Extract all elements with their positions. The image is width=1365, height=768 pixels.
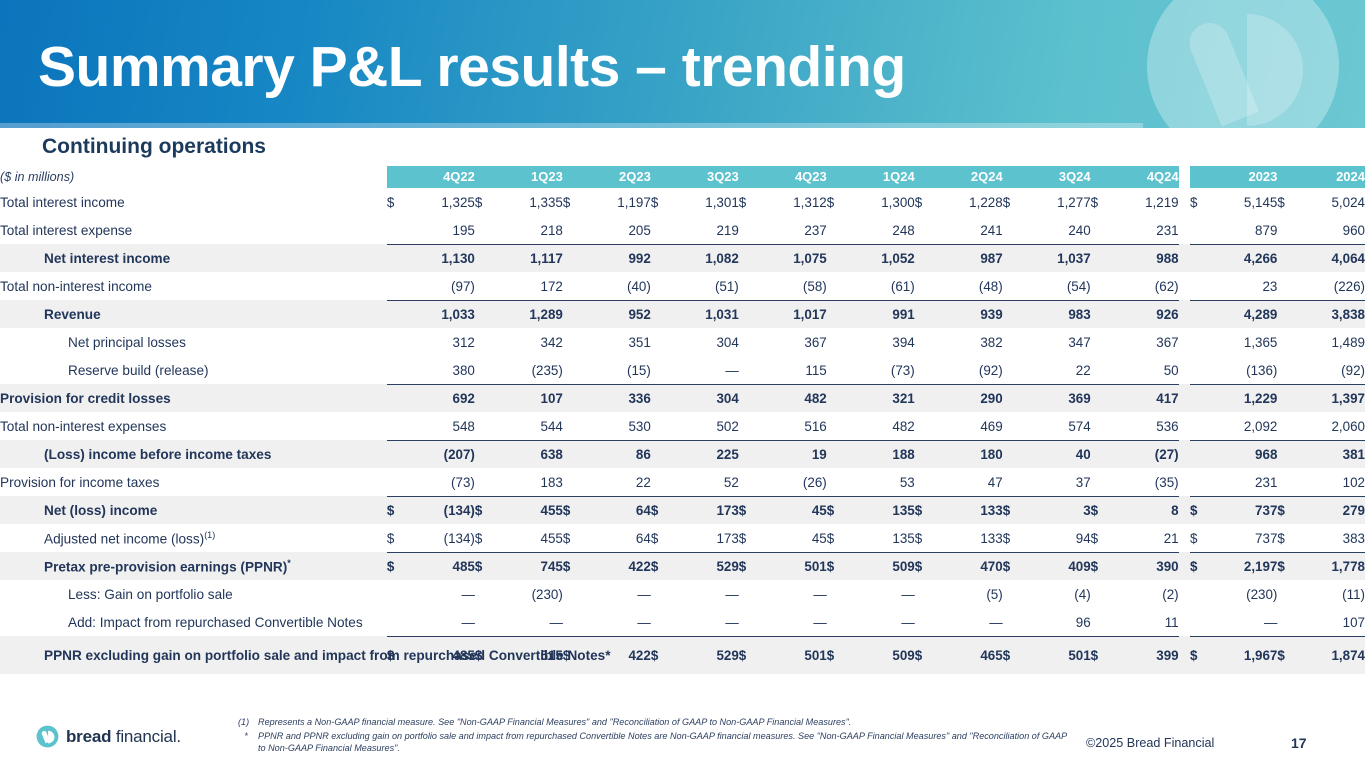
currency-symbol: $	[387, 188, 408, 216]
cell-4Q22: (207)	[407, 440, 474, 468]
row-label-superscript: (1)	[204, 530, 215, 540]
row-label: Reserve build (release)	[0, 356, 387, 384]
cell-1Q23: 183	[495, 468, 562, 496]
cell-4Q22: (134)	[407, 496, 474, 524]
currency-symbol	[1003, 300, 1024, 328]
currency-symbol	[827, 384, 848, 412]
currency-symbol	[915, 300, 936, 328]
currency-symbol	[1091, 412, 1112, 440]
column-group-gap	[1179, 552, 1190, 580]
cell-1Q24: 53	[847, 468, 914, 496]
cell-2Q23: 1,197	[583, 188, 650, 216]
currency-symbol: $	[475, 552, 496, 580]
currency-symbol: $	[387, 524, 408, 552]
row-label: Pretax pre-provision earnings (PPNR)*	[0, 552, 387, 580]
cell-2024: (226)	[1300, 272, 1365, 300]
currency-symbol: $	[1190, 552, 1213, 580]
cell-2Q24: 47	[935, 468, 1002, 496]
currency-symbol: $	[1091, 552, 1112, 580]
footnotes: (1) Represents a Non-GAAP financial meas…	[238, 716, 1068, 757]
currency-symbol	[827, 244, 848, 272]
currency-symbol	[827, 300, 848, 328]
cell-4Q24: 21	[1111, 524, 1178, 552]
units-label: ($ in millions)	[0, 166, 387, 188]
currency-symbol	[1277, 300, 1300, 328]
table-row: Less: Gain on portfolio sale—(230)————(5…	[0, 580, 1365, 608]
row-label-text: Total interest income	[0, 195, 125, 210]
table-row: PPNR excluding gain on portfolio sale an…	[0, 636, 1365, 674]
row-label-superscript: *	[287, 558, 291, 568]
currency-symbol: $	[1003, 496, 1024, 524]
header-spacer	[651, 166, 672, 188]
banner-underline	[0, 123, 1143, 128]
currency-symbol	[651, 608, 672, 636]
cell-2Q24: (92)	[935, 356, 1002, 384]
cell-2023: 5,145	[1213, 188, 1278, 216]
cell-2024: 1,397	[1300, 384, 1365, 412]
column-group-gap	[1179, 496, 1190, 524]
currency-symbol: $	[651, 552, 672, 580]
currency-symbol: $	[651, 524, 672, 552]
header-spacer	[1003, 166, 1024, 188]
currency-symbol	[475, 272, 496, 300]
column-header-2Q24: 2Q24	[935, 166, 1002, 188]
cell-3Q23: 529	[671, 552, 738, 580]
currency-symbol	[651, 244, 672, 272]
currency-symbol	[563, 580, 584, 608]
cell-2Q23: 336	[583, 384, 650, 412]
cell-3Q23: —	[671, 356, 738, 384]
row-label-text: Net principal losses	[68, 335, 186, 350]
cell-1Q24: 1,300	[847, 188, 914, 216]
row-label-text: Total non-interest income	[0, 279, 152, 294]
cell-1Q24: 188	[847, 440, 914, 468]
currency-symbol	[1091, 608, 1112, 636]
currency-symbol	[387, 244, 408, 272]
currency-symbol	[475, 356, 496, 384]
cell-4Q24: 8	[1111, 496, 1178, 524]
cell-4Q23: 501	[759, 636, 826, 674]
currency-symbol: $	[739, 496, 760, 524]
currency-symbol: $	[915, 524, 936, 552]
currency-symbol	[827, 468, 848, 496]
cell-1Q24: 394	[847, 328, 914, 356]
currency-symbol	[915, 412, 936, 440]
table-row: Pretax pre-provision earnings (PPNR)*$48…	[0, 552, 1365, 580]
currency-symbol	[739, 580, 760, 608]
currency-symbol	[563, 300, 584, 328]
currency-symbol	[563, 608, 584, 636]
cell-3Q23: 173	[671, 524, 738, 552]
cell-2023: 2,197	[1213, 552, 1278, 580]
currency-symbol	[475, 328, 496, 356]
currency-symbol: $	[1091, 524, 1112, 552]
cell-4Q23: 1,312	[759, 188, 826, 216]
currency-symbol: $	[739, 524, 760, 552]
cell-4Q24: 988	[1111, 244, 1178, 272]
currency-symbol: $	[739, 552, 760, 580]
cell-2Q23: (40)	[583, 272, 650, 300]
currency-symbol	[739, 356, 760, 384]
bread-financial-logo-icon	[36, 725, 59, 748]
row-label: PPNR excluding gain on portfolio sale an…	[0, 636, 387, 674]
cell-2Q24: 133	[935, 496, 1002, 524]
currency-symbol	[651, 580, 672, 608]
currency-symbol	[1003, 468, 1024, 496]
table-row: Total interest income$1,325$1,335$1,197$…	[0, 188, 1365, 216]
column-header-2Q23: 2Q23	[583, 166, 650, 188]
cell-1Q24: 509	[847, 636, 914, 674]
cell-4Q24: 367	[1111, 328, 1178, 356]
currency-symbol	[739, 300, 760, 328]
cell-1Q23: 745	[495, 552, 562, 580]
currency-symbol: $	[915, 496, 936, 524]
cell-2023: 1,967	[1213, 636, 1278, 674]
currency-symbol	[915, 356, 936, 384]
bread-financial-logo: bread financial.	[36, 725, 181, 748]
currency-symbol: $	[475, 188, 496, 216]
cell-2Q23: 205	[583, 216, 650, 244]
currency-symbol	[827, 580, 848, 608]
cell-2024: 2,060	[1300, 412, 1365, 440]
row-label: Provision for credit losses	[0, 384, 387, 412]
cell-2Q24: 241	[935, 216, 1002, 244]
currency-symbol	[475, 244, 496, 272]
currency-symbol: $	[915, 552, 936, 580]
currency-symbol	[1277, 468, 1300, 496]
cell-2024: 5,024	[1300, 188, 1365, 216]
cell-4Q24: 11	[1111, 608, 1178, 636]
cell-2024: (92)	[1300, 356, 1365, 384]
cell-2Q24: 1,228	[935, 188, 1002, 216]
cell-2Q24: 133	[935, 524, 1002, 552]
currency-symbol	[387, 580, 408, 608]
currency-symbol	[475, 384, 496, 412]
table-row: Provision for income taxes(73)1832252(26…	[0, 468, 1365, 496]
cell-4Q24: 399	[1111, 636, 1178, 674]
row-label-text: Reserve build (release)	[68, 363, 209, 378]
cell-1Q23: 172	[495, 272, 562, 300]
currency-symbol: $	[827, 524, 848, 552]
header-spacer	[915, 166, 936, 188]
cell-4Q24: 50	[1111, 356, 1178, 384]
column-header-1Q24: 1Q24	[847, 166, 914, 188]
cell-3Q23: —	[671, 580, 738, 608]
row-label: Net (loss) income	[0, 496, 387, 524]
logo-financial: financial.	[111, 727, 181, 746]
currency-symbol	[1190, 272, 1213, 300]
currency-symbol	[563, 412, 584, 440]
cell-2023: 968	[1213, 440, 1278, 468]
currency-symbol	[1003, 216, 1024, 244]
currency-symbol	[1190, 440, 1213, 468]
cell-4Q24: (62)	[1111, 272, 1178, 300]
currency-symbol	[651, 468, 672, 496]
bread-financial-b-mark-icon	[1143, 0, 1343, 128]
cell-2Q23: 952	[583, 300, 650, 328]
cell-3Q23: 529	[671, 636, 738, 674]
row-label-text: PPNR excluding gain on portfolio sale an…	[44, 648, 611, 663]
column-group-gap	[1179, 272, 1190, 300]
cell-3Q24: 37	[1023, 468, 1090, 496]
row-label-text: Adjusted net income (loss)	[44, 531, 204, 546]
currency-symbol	[827, 216, 848, 244]
cell-3Q24: 983	[1023, 300, 1090, 328]
cell-4Q22: —	[407, 580, 474, 608]
cell-2Q23: (15)	[583, 356, 650, 384]
cell-1Q23: (235)	[495, 356, 562, 384]
currency-symbol: $	[1003, 552, 1024, 580]
currency-symbol	[915, 440, 936, 468]
cell-4Q22: 1,033	[407, 300, 474, 328]
table-header-row: ($ in millions)4Q221Q232Q233Q234Q231Q242…	[0, 166, 1365, 188]
currency-symbol	[739, 468, 760, 496]
cell-4Q22: (73)	[407, 468, 474, 496]
currency-symbol	[475, 300, 496, 328]
cell-4Q23: 19	[759, 440, 826, 468]
cell-1Q23: —	[495, 608, 562, 636]
currency-symbol	[1190, 608, 1213, 636]
cell-2024: 4,064	[1300, 244, 1365, 272]
currency-symbol	[651, 300, 672, 328]
currency-symbol: $	[739, 636, 760, 674]
cell-2024: 279	[1300, 496, 1365, 524]
cell-2Q23: 992	[583, 244, 650, 272]
cell-2Q24: 290	[935, 384, 1002, 412]
cell-1Q23: 638	[495, 440, 562, 468]
cell-4Q23: 516	[759, 412, 826, 440]
currency-symbol: $	[827, 636, 848, 674]
currency-symbol	[1003, 580, 1024, 608]
cell-4Q23: (26)	[759, 468, 826, 496]
table-row: Total interest expense195218205219237248…	[0, 216, 1365, 244]
currency-symbol	[1003, 608, 1024, 636]
currency-symbol	[827, 328, 848, 356]
currency-symbol	[739, 384, 760, 412]
cell-2024: 383	[1300, 524, 1365, 552]
currency-symbol	[1003, 328, 1024, 356]
currency-symbol	[651, 384, 672, 412]
cell-4Q23: 45	[759, 496, 826, 524]
cell-4Q23: 115	[759, 356, 826, 384]
row-label: (Loss) income before income taxes	[0, 440, 387, 468]
cell-3Q24: 3	[1023, 496, 1090, 524]
cell-2Q23: 351	[583, 328, 650, 356]
currency-symbol	[475, 468, 496, 496]
cell-1Q24: —	[847, 580, 914, 608]
currency-symbol: $	[651, 188, 672, 216]
currency-symbol	[1277, 272, 1300, 300]
currency-symbol: $	[563, 552, 584, 580]
cell-2Q24: 382	[935, 328, 1002, 356]
cell-1Q24: 135	[847, 524, 914, 552]
row-label-text: Provision for income taxes	[0, 475, 159, 490]
column-group-gap	[1179, 166, 1190, 188]
cell-1Q24: —	[847, 608, 914, 636]
currency-symbol	[563, 216, 584, 244]
currency-symbol	[1091, 384, 1112, 412]
cell-2Q24: (5)	[935, 580, 1002, 608]
cell-4Q22: (134)	[407, 524, 474, 552]
currency-symbol	[1190, 384, 1213, 412]
currency-symbol: $	[387, 552, 408, 580]
section-title: Continuing operations	[42, 135, 266, 159]
footnote-1: (1) Represents a Non-GAAP financial meas…	[238, 716, 1068, 728]
row-label: Total interest income	[0, 188, 387, 216]
cell-3Q24: 96	[1023, 608, 1090, 636]
cell-4Q23: 482	[759, 384, 826, 412]
currency-symbol	[387, 216, 408, 244]
currency-symbol	[1003, 244, 1024, 272]
currency-symbol	[387, 608, 408, 636]
cell-4Q23: 1,017	[759, 300, 826, 328]
currency-symbol	[387, 440, 408, 468]
cell-4Q22: 195	[407, 216, 474, 244]
currency-symbol: $	[1190, 636, 1213, 674]
currency-symbol	[1091, 216, 1112, 244]
cell-2023: —	[1213, 608, 1278, 636]
cell-4Q22: 548	[407, 412, 474, 440]
cell-1Q23: 455	[495, 524, 562, 552]
currency-symbol	[1190, 412, 1213, 440]
column-header-4Q23: 4Q23	[759, 166, 826, 188]
currency-symbol	[475, 608, 496, 636]
page-number: 17	[1291, 735, 1307, 751]
currency-symbol	[387, 468, 408, 496]
cell-4Q22: 1,325	[407, 188, 474, 216]
cell-1Q24: (73)	[847, 356, 914, 384]
cell-3Q23: —	[671, 608, 738, 636]
row-label-text: Net interest income	[44, 251, 170, 266]
cell-3Q23: 52	[671, 468, 738, 496]
cell-3Q24: (54)	[1023, 272, 1090, 300]
cell-3Q23: 1,031	[671, 300, 738, 328]
header-spacer	[1190, 166, 1213, 188]
row-label: Adjusted net income (loss)(1)	[0, 524, 387, 552]
currency-symbol	[1277, 328, 1300, 356]
currency-symbol	[387, 272, 408, 300]
column-header-3Q24: 3Q24	[1023, 166, 1090, 188]
cell-2Q23: 64	[583, 496, 650, 524]
column-group-gap	[1179, 580, 1190, 608]
currency-symbol: $	[651, 496, 672, 524]
currency-symbol	[475, 412, 496, 440]
currency-symbol	[1091, 468, 1112, 496]
currency-symbol	[739, 440, 760, 468]
currency-symbol	[387, 412, 408, 440]
currency-symbol	[1003, 272, 1024, 300]
currency-symbol	[1190, 300, 1213, 328]
currency-symbol	[387, 384, 408, 412]
cell-2Q24: 469	[935, 412, 1002, 440]
copyright-text: ©2025 Bread Financial	[1086, 736, 1214, 750]
cell-1Q24: 509	[847, 552, 914, 580]
cell-2024: 1,489	[1300, 328, 1365, 356]
cell-2Q24: —	[935, 608, 1002, 636]
cell-2023: 2,092	[1213, 412, 1278, 440]
currency-symbol	[1003, 356, 1024, 384]
table-row: Total non-interest income(97)172(40)(51)…	[0, 272, 1365, 300]
cell-2Q23: 64	[583, 524, 650, 552]
cell-2024: 960	[1300, 216, 1365, 244]
cell-1Q24: 1,052	[847, 244, 914, 272]
cell-4Q23: 501	[759, 552, 826, 580]
row-label-text: (Loss) income before income taxes	[44, 447, 271, 462]
column-header-4Q24: 4Q24	[1111, 166, 1178, 188]
currency-symbol	[739, 608, 760, 636]
currency-symbol: $	[1277, 188, 1300, 216]
header-spacer	[739, 166, 760, 188]
table-row: Net principal losses31234235130436739438…	[0, 328, 1365, 356]
cell-2023: 879	[1213, 216, 1278, 244]
footnote-star-text: PPNR and PPNR excluding gain on portfoli…	[258, 730, 1068, 754]
currency-symbol	[563, 272, 584, 300]
currency-symbol: $	[1190, 496, 1213, 524]
currency-symbol	[739, 244, 760, 272]
cell-4Q22: 380	[407, 356, 474, 384]
column-header-1Q23: 1Q23	[495, 166, 562, 188]
logo-bread: bread	[66, 727, 111, 746]
cell-2024: 107	[1300, 608, 1365, 636]
cell-2Q23: 22	[583, 468, 650, 496]
currency-symbol	[915, 384, 936, 412]
currency-symbol	[387, 328, 408, 356]
cell-3Q23: 304	[671, 384, 738, 412]
cell-2Q23: —	[583, 580, 650, 608]
currency-symbol: $	[915, 188, 936, 216]
cell-2024: 381	[1300, 440, 1365, 468]
currency-symbol: $	[915, 636, 936, 674]
currency-symbol: $	[1003, 188, 1024, 216]
row-label-text: Total non-interest expenses	[0, 419, 166, 434]
currency-symbol	[1277, 244, 1300, 272]
header-spacer	[387, 166, 408, 188]
currency-symbol	[1277, 440, 1300, 468]
currency-symbol	[1091, 356, 1112, 384]
currency-symbol	[1190, 356, 1213, 384]
cell-1Q24: 482	[847, 412, 914, 440]
cell-2023: (230)	[1213, 580, 1278, 608]
currency-symbol	[475, 216, 496, 244]
column-header-3Q23: 3Q23	[671, 166, 738, 188]
currency-symbol	[475, 580, 496, 608]
cell-4Q24: (2)	[1111, 580, 1178, 608]
header-spacer	[1277, 166, 1300, 188]
cell-2023: 4,289	[1213, 300, 1278, 328]
column-group-gap	[1179, 636, 1190, 674]
cell-4Q22: 485	[407, 552, 474, 580]
currency-symbol: $	[475, 496, 496, 524]
currency-symbol: $	[1277, 496, 1300, 524]
currency-symbol	[827, 356, 848, 384]
column-header-4Q22: 4Q22	[407, 166, 474, 188]
cell-3Q24: 22	[1023, 356, 1090, 384]
header-spacer	[1091, 166, 1112, 188]
footnote-star: * PPNR and PPNR excluding gain on portfo…	[238, 730, 1068, 754]
row-label: Total non-interest income	[0, 272, 387, 300]
column-group-gap	[1179, 440, 1190, 468]
currency-symbol	[651, 412, 672, 440]
cell-3Q24: 409	[1023, 552, 1090, 580]
currency-symbol	[739, 328, 760, 356]
cell-2023: 4,266	[1213, 244, 1278, 272]
cell-3Q24: 240	[1023, 216, 1090, 244]
cell-3Q24: 40	[1023, 440, 1090, 468]
currency-symbol	[827, 412, 848, 440]
cell-3Q23: 225	[671, 440, 738, 468]
cell-1Q24: 135	[847, 496, 914, 524]
currency-symbol	[1190, 328, 1213, 356]
